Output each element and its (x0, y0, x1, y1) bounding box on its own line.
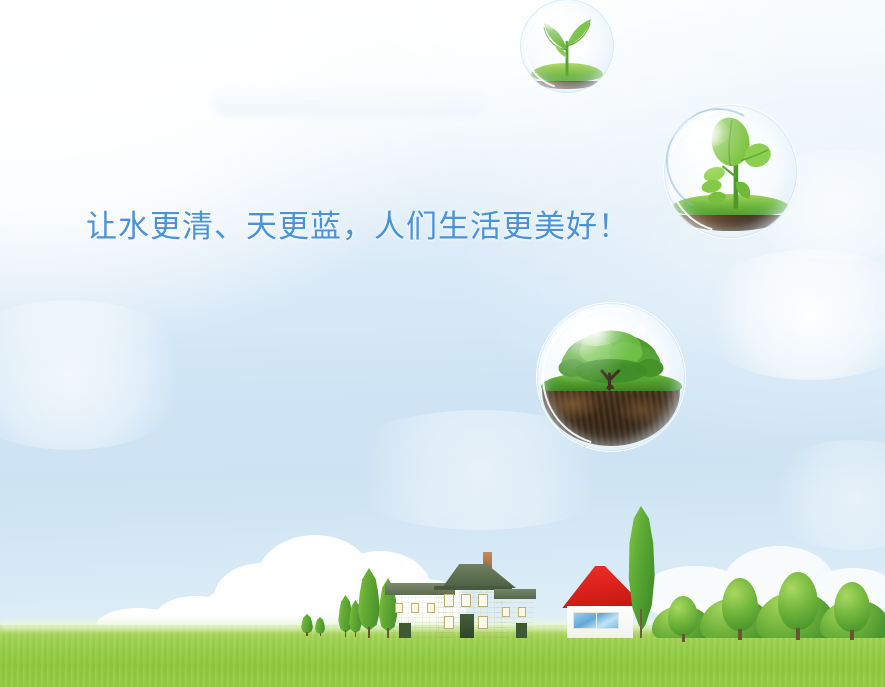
cloud-wisp-left (0, 300, 200, 450)
round-tree-right-a (722, 578, 758, 640)
wing-window (518, 607, 526, 617)
wing-wall (496, 598, 534, 638)
ghost-bar-artifact (212, 86, 486, 116)
round-tree-right-b (778, 572, 818, 640)
seedling-bubble (663, 104, 798, 239)
wing-door (516, 623, 527, 638)
eco-banner: 让水更清、天更蓝，人们生活更美好！ (0, 0, 885, 687)
manor-window (461, 594, 471, 607)
round-tree-right-c (834, 582, 870, 640)
sprout-plant (519, 0, 615, 94)
house-window-mullion (596, 612, 597, 629)
tree-bubble (536, 302, 686, 452)
annex-door (399, 623, 411, 638)
wing-window (502, 607, 510, 617)
conical-tree-small-a (300, 614, 314, 636)
tree-scene (536, 302, 686, 452)
poplar-tree (623, 506, 659, 638)
manor-window (478, 616, 488, 629)
manor-door (460, 614, 474, 638)
manor-window (478, 594, 488, 607)
annex-window (411, 603, 419, 613)
conical-tree-small-b (314, 617, 326, 636)
manor-window (444, 594, 454, 607)
yellow-wing-right (494, 589, 536, 638)
manor-window (444, 616, 454, 629)
round-tree-right-d (668, 596, 698, 642)
annex-window (395, 603, 403, 613)
banner-slogan: 让水更清、天更蓝，人们生活更美好！ (86, 208, 630, 247)
seedling-plant (663, 104, 798, 239)
cloud-wisp-right (690, 250, 885, 380)
seedling-scene (663, 104, 798, 239)
mature-tree (536, 302, 686, 452)
sprout-bubble (519, 0, 615, 94)
sprout-scene (519, 0, 615, 94)
manor-roof (430, 564, 516, 588)
cloud-wisp-far-right (760, 440, 885, 550)
